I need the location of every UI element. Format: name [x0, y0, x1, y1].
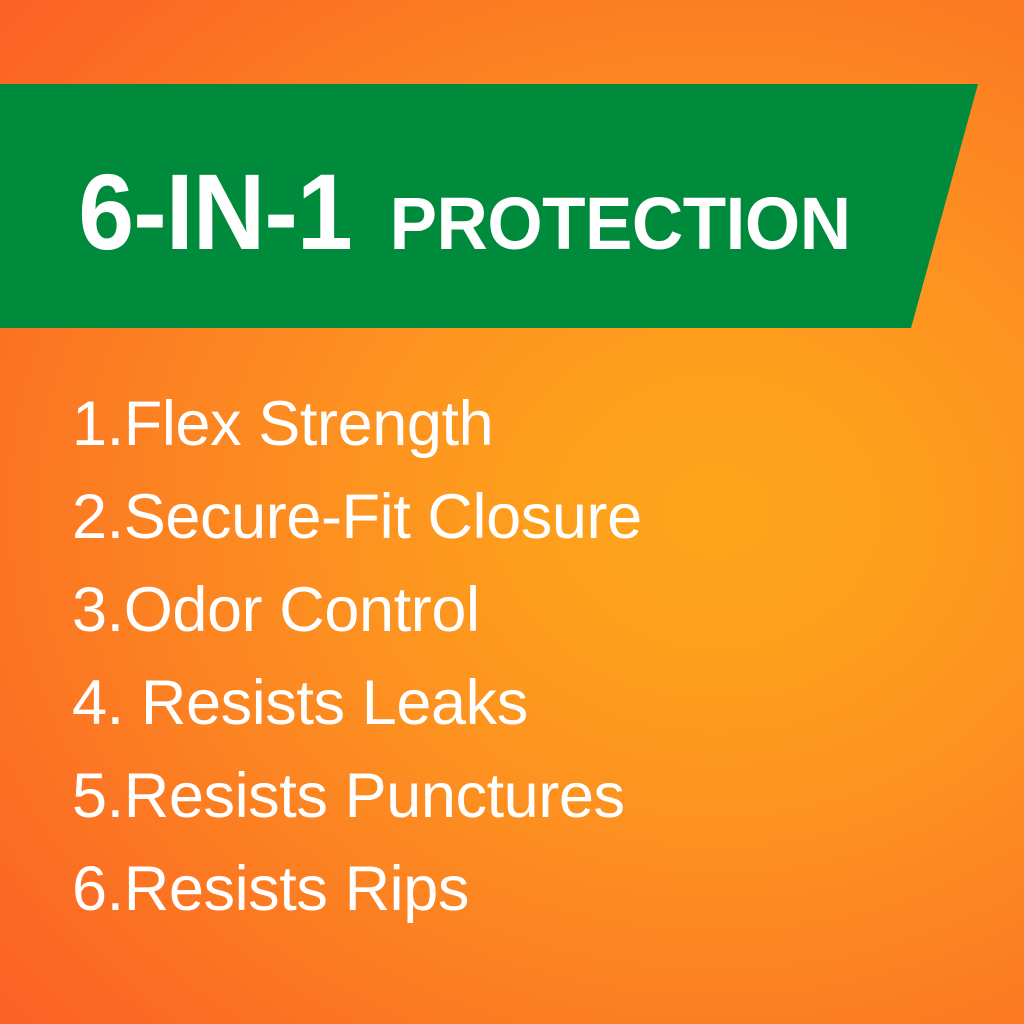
list-item-label: Resists Leaks	[124, 668, 528, 738]
list-item-label: Resists Rips	[124, 854, 469, 924]
list-item: 4. Resists Leaks	[72, 657, 984, 750]
list-item-number: 2.	[72, 482, 124, 552]
banner-title-main: 6-IN-1	[78, 164, 351, 259]
list-item-number: 1.	[72, 389, 124, 459]
list-item-label: Flex Strength	[124, 389, 493, 459]
banner-title-sub: PROTECTION	[390, 191, 851, 256]
list-item-label: Odor Control	[124, 575, 480, 645]
list-item-number: 5.	[72, 761, 124, 831]
feature-list: 1.Flex Strength 2.Secure-Fit Closure 3.O…	[72, 378, 984, 936]
list-item: 6.Resists Rips	[72, 843, 984, 936]
poster-canvas: 6-IN-1 PROTECTION 1.Flex Strength 2.Secu…	[0, 0, 1024, 1024]
list-item-number: 6.	[72, 854, 124, 924]
list-item-label: Secure-Fit Closure	[124, 482, 642, 552]
banner-title: 6-IN-1 PROTECTION	[68, 164, 860, 259]
list-item: 2.Secure-Fit Closure	[72, 471, 984, 564]
list-item: 1.Flex Strength	[72, 378, 984, 471]
protection-banner: 6-IN-1 PROTECTION	[0, 84, 978, 328]
list-item-number: 4.	[72, 668, 124, 738]
list-item-number: 3.	[72, 575, 124, 645]
list-item: 3.Odor Control	[72, 564, 984, 657]
list-item-label: Resists Punctures	[124, 761, 625, 831]
list-item: 5.Resists Punctures	[72, 750, 984, 843]
